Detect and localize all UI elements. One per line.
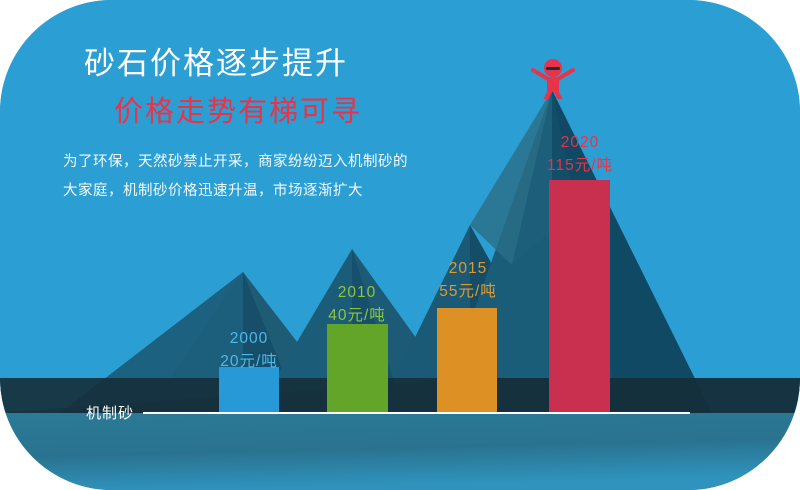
- bar-label-2000: 2000 20元/吨: [189, 327, 309, 373]
- bar-price-2010: 40元/吨: [297, 304, 417, 327]
- bar-label-2020: 2020 115元/吨: [520, 131, 640, 177]
- axis-label: 机制砂: [86, 402, 134, 423]
- baseline-axis: [143, 412, 690, 414]
- page-subtitle: 价格走势有梯可寻: [114, 88, 362, 130]
- bar-year-2010: 2010: [297, 281, 417, 304]
- rounded-card: 2000 20元/吨 2010 40元/吨 2015 55元/吨 2020 11…: [0, 0, 800, 490]
- celebrating-person-icon: [527, 57, 579, 99]
- bar-year-2020: 2020: [520, 131, 640, 154]
- page-title: 砂石价格逐步提升: [84, 38, 348, 83]
- infographic-canvas: 2000 20元/吨 2010 40元/吨 2015 55元/吨 2020 11…: [0, 0, 800, 490]
- bar-2015: [437, 308, 497, 413]
- bar-year-2015: 2015: [408, 257, 528, 280]
- bar-price-2000: 20元/吨: [189, 350, 309, 373]
- ground-teal-base: [0, 413, 800, 490]
- bar-2010: [327, 324, 388, 413]
- bar-price-2015: 55元/吨: [408, 280, 528, 303]
- bar-price-2020: 115元/吨: [520, 154, 640, 177]
- bar-year-2000: 2000: [189, 327, 309, 350]
- description-paragraph: 为了环保，天然砂禁止开采，商家纷纷迈入机制砂的大家庭，机制砂价格迅速升温，市场逐…: [63, 148, 415, 206]
- bar-2020: [549, 180, 610, 413]
- bar-label-2015: 2015 55元/吨: [408, 257, 528, 303]
- bar-label-2010: 2010 40元/吨: [297, 281, 417, 327]
- bar-2000: [219, 367, 279, 413]
